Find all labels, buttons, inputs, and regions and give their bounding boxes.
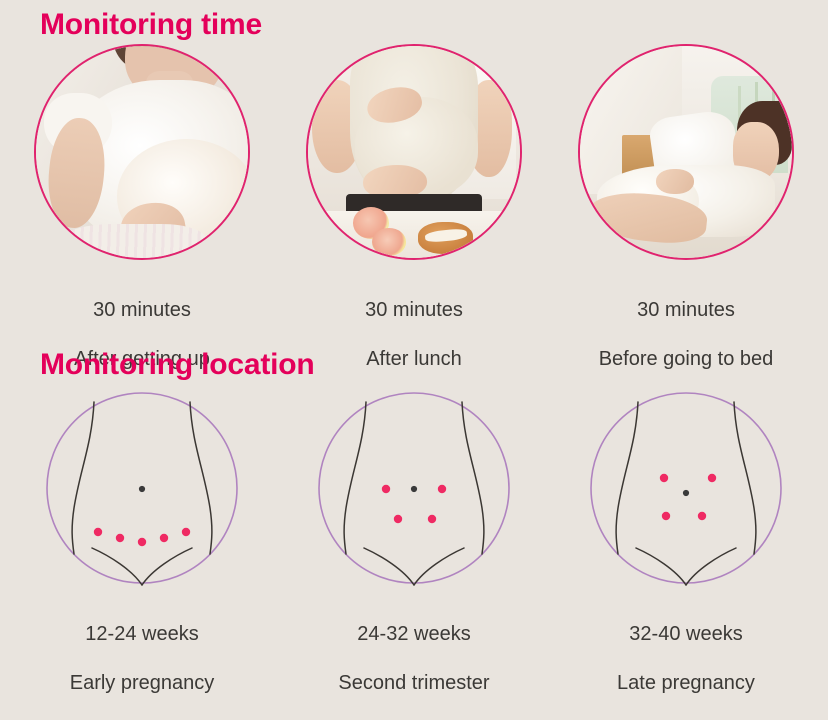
monitoring-location-item-1: 12-24 weeks Early pregnancy xyxy=(4,384,280,720)
photo3-hands xyxy=(656,169,694,194)
monitor-dot xyxy=(662,512,670,520)
monitor-dot xyxy=(698,512,706,520)
torso-diagram-late-pregnancy xyxy=(580,388,792,588)
caption-line1: 12-24 weeks xyxy=(4,622,280,646)
diagram-ring xyxy=(591,393,781,583)
torso-diagram-second-trimester xyxy=(308,388,520,588)
caption-line2: Before going to bed xyxy=(548,347,824,371)
photo2-grapefruit-half-2 xyxy=(372,228,406,256)
torso-diagram-early-pregnancy xyxy=(36,388,248,588)
caption-line1: 30 minutes xyxy=(548,298,824,322)
pregnant-woman-in-bed-photo xyxy=(578,44,794,260)
monitor-dot xyxy=(116,534,124,542)
photo2-berries xyxy=(310,224,335,243)
navel-marker xyxy=(411,486,417,492)
monitor-dot xyxy=(160,534,168,542)
monitor-dot xyxy=(660,474,668,482)
caption-line2: After lunch xyxy=(276,347,552,371)
caption-monitoring-location-3: 32-40 weeks Late pregnancy xyxy=(548,598,824,720)
monitoring-time-item-2: 30 minutes After lunch xyxy=(276,40,552,396)
pregnant-woman-standing-photo xyxy=(34,44,250,260)
caption-line2: Second trimester xyxy=(276,671,552,695)
monitor-dot xyxy=(428,515,436,523)
caption-line1: 24-32 weeks xyxy=(276,622,552,646)
torso-svg-2 xyxy=(308,388,520,588)
monitor-dot xyxy=(708,474,716,482)
torso-left-outline xyxy=(344,402,366,554)
torso-left-outline xyxy=(72,402,94,554)
torso-svg-1 xyxy=(36,388,248,588)
torso-svg-3 xyxy=(580,388,792,588)
caption-monitoring-location-1: 12-24 weeks Early pregnancy xyxy=(4,598,280,720)
torso-left-outline xyxy=(616,402,638,554)
monitoring-location-item-3: 32-40 weeks Late pregnancy xyxy=(548,384,824,720)
section-title-monitoring-time: Monitoring time xyxy=(40,10,262,40)
monitor-dot xyxy=(94,528,102,536)
monitor-dot xyxy=(182,528,190,536)
caption-monitoring-time-2: 30 minutes After lunch xyxy=(276,274,552,396)
monitoring-location-item-2: 24-32 weeks Second trimester xyxy=(276,384,552,720)
caption-monitoring-time-3: 30 minutes Before going to bed xyxy=(548,274,824,396)
photo-inner-1 xyxy=(36,46,248,258)
torso-right-outline xyxy=(734,402,756,554)
navel-marker xyxy=(683,490,689,496)
section-title-monitoring-location: Monitoring location xyxy=(40,350,315,380)
torso-right-outline xyxy=(462,402,484,554)
infographic-page: Monitoring time 3 xyxy=(0,0,828,663)
monitoring-location-row: 12-24 weeks Early pregnancy xyxy=(0,384,828,684)
caption-line1: 32-40 weeks xyxy=(548,622,824,646)
photo-inner-3 xyxy=(580,46,792,258)
torso-right-outline xyxy=(190,402,212,554)
caption-line2: Early pregnancy xyxy=(4,671,280,695)
monitoring-time-item-3: 30 minutes Before going to bed xyxy=(548,40,824,396)
photo1-pants xyxy=(57,224,205,258)
photo-inner-2 xyxy=(308,46,520,258)
caption-monitoring-location-2: 24-32 weeks Second trimester xyxy=(276,598,552,720)
navel-marker xyxy=(139,486,145,492)
monitor-dot xyxy=(382,485,390,493)
monitor-dot xyxy=(394,515,402,523)
monitoring-time-row: 30 minutes After getting up xyxy=(0,40,828,340)
caption-line1: 30 minutes xyxy=(4,298,280,322)
monitoring-time-item-1: 30 minutes After getting up xyxy=(4,40,280,396)
caption-line1: 30 minutes xyxy=(276,298,552,322)
caption-line2: Late pregnancy xyxy=(548,671,824,695)
pregnant-woman-with-meal-photo xyxy=(306,44,522,260)
monitor-dot xyxy=(438,485,446,493)
monitor-dot xyxy=(138,538,146,546)
photo2-table xyxy=(308,211,520,258)
